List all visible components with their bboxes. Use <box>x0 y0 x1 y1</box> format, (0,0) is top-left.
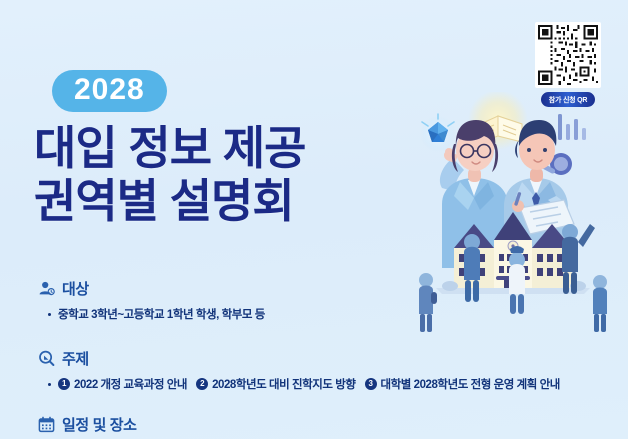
headline-line-1: 대입 정보 제공 <box>34 122 305 175</box>
section-target-title: 대상 <box>62 278 89 299</box>
section-schedule: 일정 및 장소 <box>38 414 137 435</box>
section-schedule-title: 일정 및 장소 <box>62 414 137 435</box>
section-topic-heading: 주제 <box>38 348 560 369</box>
qr-label: 참가 신청 QR <box>541 92 596 107</box>
section-topic: 주제 1 2022 개정 교육과정 안내 2 2028학년도 대비 진학지도 방… <box>38 348 560 392</box>
topic-item-text: 2028학년도 대비 진학지도 방향 <box>212 376 355 392</box>
topic-item: 3 대학별 2028학년도 전형 운영 계획 안내 <box>365 376 560 392</box>
topic-number-badge: 2 <box>196 378 208 390</box>
section-target: 대상 중학교 3학년~고등학교 1학년 학생, 학부모 등 <box>38 278 265 322</box>
page-title: 대입 정보 제공 권역별 설명회 <box>34 122 305 229</box>
section-schedule-heading: 일정 및 장소 <box>38 414 137 435</box>
qr-code-icon[interactable] <box>535 22 601 88</box>
topic-number-badge: 1 <box>58 378 70 390</box>
topic-item-text: 대학별 2028학년도 전형 운영 계획 안내 <box>381 376 560 392</box>
section-topic-title: 주제 <box>62 348 89 369</box>
poster-canvas: 참가 신청 QR 2028 대입 정보 제공 권역별 설명회 대상 중학교 3학… <box>0 0 628 439</box>
section-target-body: 중학교 3학년~고등학교 1학년 학생, 학부모 등 <box>38 306 265 322</box>
topic-item-text: 2022 개정 교육과정 안내 <box>74 376 187 392</box>
section-topic-body: 1 2022 개정 교육과정 안내 2 2028학년도 대비 진학지도 방향 3… <box>38 376 560 392</box>
calendar-icon <box>38 416 55 433</box>
bullet-icon <box>48 313 51 316</box>
topic-item: 1 2022 개정 교육과정 안내 <box>58 376 187 392</box>
section-target-heading: 대상 <box>38 278 265 299</box>
bullet-icon <box>48 383 51 386</box>
topic-number-badge: 3 <box>365 378 377 390</box>
qr-block[interactable]: 참가 신청 QR <box>531 22 605 107</box>
magnifier-icon <box>38 350 55 367</box>
headline-line-2: 권역별 설명회 <box>34 175 305 228</box>
year-badge: 2028 <box>52 70 167 112</box>
person-icon <box>38 280 55 297</box>
topic-item: 2 2028학년도 대비 진학지도 방향 <box>196 376 355 392</box>
section-target-text: 중학교 3학년~고등학교 1학년 학생, 학부모 등 <box>58 306 265 322</box>
